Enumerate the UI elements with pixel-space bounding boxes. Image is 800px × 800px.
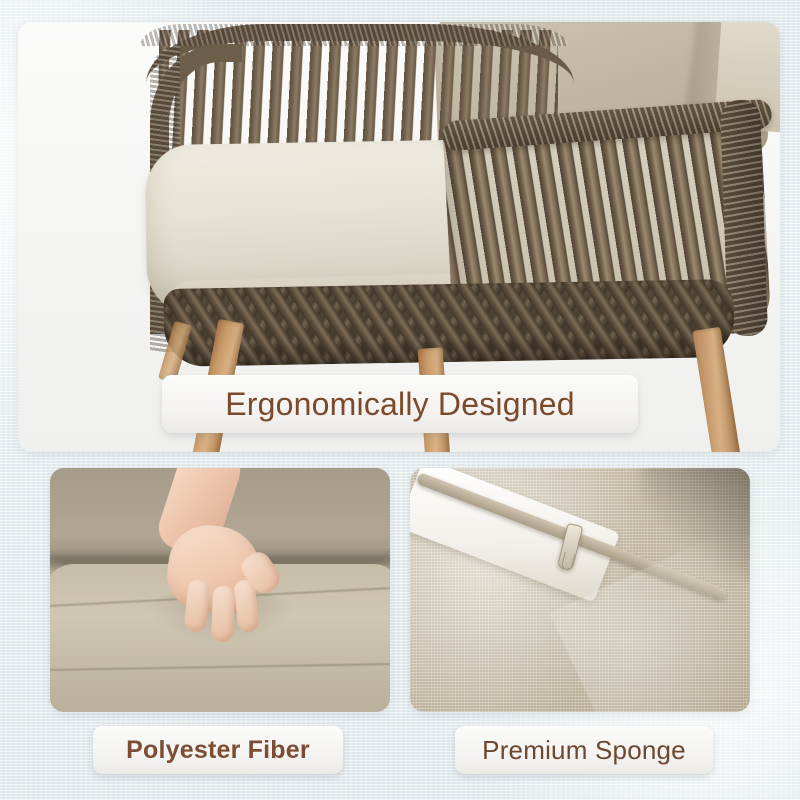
- hand: [142, 468, 270, 640]
- cushion-press-scene: [50, 468, 390, 712]
- zipper-closeup-scene: [410, 468, 750, 712]
- caption-premium-sponge: Premium Sponge: [455, 726, 713, 774]
- finger: [183, 579, 210, 633]
- caption-ergonomically-designed: Ergonomically Designed: [162, 375, 638, 433]
- product-feature-collage: Ergonomically Designed Polyester Fiber: [0, 0, 800, 800]
- woven-seat-base: [163, 279, 734, 367]
- caption-polyester-fiber: Polyester Fiber: [93, 726, 343, 774]
- finger: [211, 586, 235, 643]
- chair-leg: [692, 327, 743, 452]
- polyester-fiber-panel[interactable]: [50, 468, 390, 712]
- premium-sponge-panel[interactable]: [410, 468, 750, 712]
